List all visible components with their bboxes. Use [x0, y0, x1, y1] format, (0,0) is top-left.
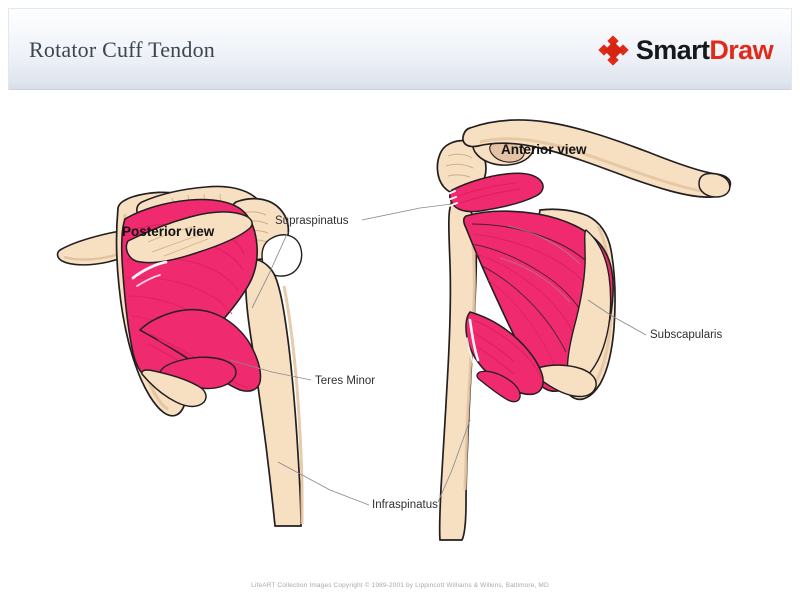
label-teres-minor: Teres Minor: [315, 375, 375, 387]
label-supraspinatus: Supraspinatus: [275, 215, 349, 227]
page-title: Rotator Cuff Tendon: [29, 9, 215, 91]
copyright-notice: LifeART Collection Images Copyright © 19…: [0, 582, 800, 589]
smartdraw-logo[interactable]: SmartDraw: [600, 9, 773, 91]
label-subscapularis: Subscapularis: [650, 329, 722, 341]
logo-text-smart: Smart: [636, 35, 710, 65]
leader-supraspinatus-right: [362, 204, 452, 220]
anatomy-illustration: Posterior view Anterior view Supraspinat…: [0, 90, 800, 597]
slide-canvas: Rotator Cuff Tendon SmartDraw: [0, 0, 800, 597]
smartdraw-diamonds-icon: [600, 37, 627, 64]
label-posterior-view: Posterior view: [122, 224, 215, 239]
label-infraspinatus: Infraspinatus: [372, 499, 438, 511]
logo-text-draw: Draw: [709, 35, 773, 65]
diamond-center: [604, 41, 622, 59]
smartdraw-wordmark: SmartDraw: [636, 37, 773, 64]
slide-header-bar: Rotator Cuff Tendon SmartDraw: [8, 8, 792, 90]
label-anterior-view: Anterior view: [501, 142, 587, 157]
posterior-humerus-shaft-bone: [246, 260, 301, 526]
